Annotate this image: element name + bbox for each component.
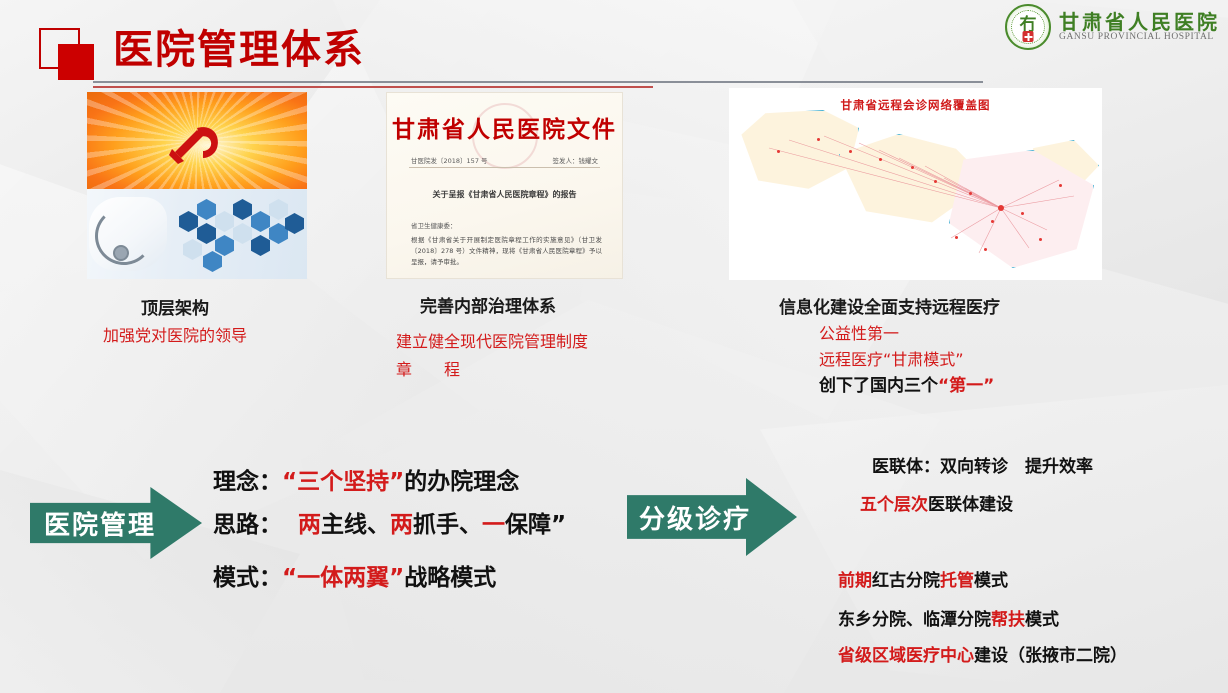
tiered-bottom-line-0-seg-3: 模式: [974, 571, 1008, 591]
document-recipient: 省卫生健康委：: [411, 220, 457, 230]
management-line-1-seg-3: 抓手、: [413, 512, 482, 538]
arrow-label-tiered-diagnosis: 分级诊疗: [639, 499, 751, 536]
management-line-0: 理念：“三个坚持”的办院理念: [213, 462, 519, 496]
management-line-1-seg-0: 两: [298, 512, 321, 538]
title-divider: [93, 81, 983, 83]
logo-name-en: GANSU PROVINCIAL HOSPITAL: [1059, 33, 1220, 43]
tiered-bottom-line-1-seg-0: 东乡分院、临潭分院: [838, 610, 991, 630]
tiered-top-line-0: 医联体：双向转诊 提升效率: [872, 452, 1093, 477]
document-number: 甘医院发〔2018〕157 号: [411, 155, 488, 165]
hospital-logo: 冇 甘肃省人民医院 GANSU PROVINCIAL HOSPITAL: [1005, 2, 1220, 52]
logo-glyph: 冇: [1020, 16, 1037, 33]
caption-red-3-0: 公益性第一: [819, 320, 899, 344]
page-title: 医院管理体系: [113, 27, 365, 73]
management-line-2-label: 模式：: [213, 565, 282, 591]
management-line-1-seg-1: 主线、: [321, 512, 390, 538]
management-line-2-seg-0: “一体两翼”: [282, 565, 404, 591]
logo-emblem-icon: 冇: [1005, 4, 1051, 50]
management-line-1-label: 思路：: [213, 512, 282, 538]
document-divider: [409, 167, 600, 168]
tiered-bottom-line-1: 东乡分院、临潭分院帮扶模式: [838, 605, 1059, 630]
party-emblem-photo: [87, 92, 307, 189]
logo-text: 甘肃省人民医院 GANSU PROVINCIAL HOSPITAL: [1059, 12, 1220, 43]
management-line-1-seg-4: 一: [482, 512, 505, 538]
logo-name-cn: 甘肃省人民医院: [1059, 12, 1220, 33]
tiered-top-line-1: 五个层次医联体建设: [860, 490, 1013, 515]
tiered-top-line-1-seg-1: 医联体建设: [928, 495, 1013, 515]
photo-official-document: 甘肃省人民医院文件 甘医院发〔2018〕157 号 签发人：钱耀文 关于呈报《甘…: [386, 92, 623, 279]
title-divider-accent: [93, 86, 653, 88]
arrow-label-hospital-management: 医院管理: [44, 505, 156, 542]
network-lines: [729, 88, 1102, 280]
arrow-tiered-diagnosis: 分级诊疗: [627, 478, 797, 556]
document-title: 甘肃省人民医院文件: [387, 110, 622, 144]
tiered-bottom-line-2: 省级区域医疗中心建设（张掖市二院）: [838, 641, 1127, 666]
tiered-top-line-1-seg-0: 五个层次: [860, 495, 928, 515]
caption-mixed-3-pre: 创下了国内三个: [819, 376, 938, 396]
management-line-0-seg-0: “三个坚持”: [282, 469, 404, 495]
caption-heading-1: 顶层架构: [141, 294, 209, 319]
caption-red-1-0: 加强党对医院的领导: [103, 322, 247, 346]
management-line-2: 模式：“一体两翼”战略模式: [213, 558, 496, 592]
tiered-top-line-0-seg-0: 医联体：双向转诊 提升效率: [872, 457, 1093, 477]
medical-cross-icon: [1023, 31, 1034, 42]
caption-heading-3: 信息化建设全面支持远程医疗: [779, 293, 1000, 318]
photo-party-leadership: [87, 92, 307, 279]
caption-red-2-1: 章 程: [396, 356, 460, 380]
caption-mixed-3-red: “第一”: [938, 376, 994, 396]
management-line-2-seg-1: 战略模式: [404, 565, 496, 591]
hammer-sickle-icon: [167, 118, 227, 164]
tiered-bottom-line-1-seg-2: 模式: [1025, 610, 1059, 630]
caption-mixed-3: 创下了国内三个“第一”: [819, 371, 994, 396]
document-subject: 关于呈报《甘肃省人民医院章程》的报告: [387, 189, 622, 200]
management-line-0-label: 理念：: [213, 469, 282, 495]
document-body: 根据《甘肃省关于开展制定医院章程工作的实施意见》（甘卫发〔2018〕278 号）…: [411, 235, 602, 268]
title-square-filled-icon: [58, 44, 94, 80]
management-line-0-seg-1: 的办院理念: [404, 469, 519, 495]
management-line-1: 思路：两主线、两抓手、一保障”: [213, 505, 566, 539]
tiered-bottom-line-0-seg-2: 托管: [940, 571, 974, 591]
medical-technology-photo: [87, 189, 307, 279]
management-line-1-seg-5: 保障”: [505, 512, 566, 538]
slide-canvas: 医院管理体系 冇 甘肃省人民医院 GANSU PROVINCIAL HOSPIT…: [0, 0, 1228, 693]
caption-red-2-0: 建立健全现代医院管理制度: [396, 328, 588, 352]
tiered-bottom-line-0: 前期红古分院托管模式: [838, 566, 1008, 591]
stethoscope-bell-icon: [113, 245, 129, 261]
caption-heading-2: 完善内部治理体系: [420, 292, 556, 317]
document-signer: 签发人：钱耀文: [553, 155, 599, 165]
tiered-bottom-line-2-seg-1: 建设（张掖市二院）: [974, 646, 1127, 666]
caption-red-3-1: 远程医疗“甘肃模式”: [819, 346, 964, 370]
arrow-hospital-management: 医院管理: [30, 487, 202, 559]
tiered-bottom-line-2-seg-0: 省级区域医疗中心: [838, 646, 974, 666]
tiered-bottom-line-0-seg-1: 红古分院: [872, 571, 940, 591]
tiered-bottom-line-0-seg-0: 前期: [838, 571, 872, 591]
photo-telemedicine-map: 甘肃省远程会诊网络覆盖图: [729, 88, 1102, 280]
tiered-bottom-line-1-seg-1: 帮扶: [991, 610, 1025, 630]
hex-icon-cluster: [173, 193, 305, 279]
management-line-1-seg-2: 两: [390, 512, 413, 538]
